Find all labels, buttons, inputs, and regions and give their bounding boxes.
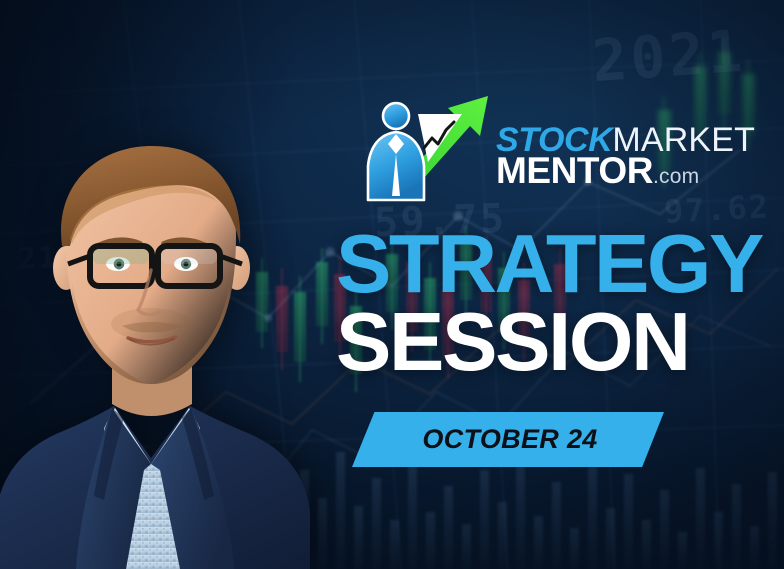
logo-word-mentor: MENTOR <box>496 150 653 191</box>
logo-word-com: .com <box>653 165 699 188</box>
promo-graphic: 2021 59.75 97.62 21.4 <box>0 0 784 569</box>
date-banner-label: OCTOBER 24 <box>352 412 664 467</box>
brand-logo: STOCKMARKET MENTOR.com <box>366 96 726 202</box>
logo-wordmark: STOCKMARKET MENTOR.com <box>496 126 755 187</box>
headline-block: STRATEGY SESSION <box>336 226 756 381</box>
date-banner: OCTOBER 24 <box>352 412 664 467</box>
background-number-year: 2021 <box>590 17 748 96</box>
headline-line-session: SESSION <box>336 304 756 380</box>
headline-line-strategy: STRATEGY <box>336 226 756 302</box>
presenter-portrait <box>0 128 312 569</box>
